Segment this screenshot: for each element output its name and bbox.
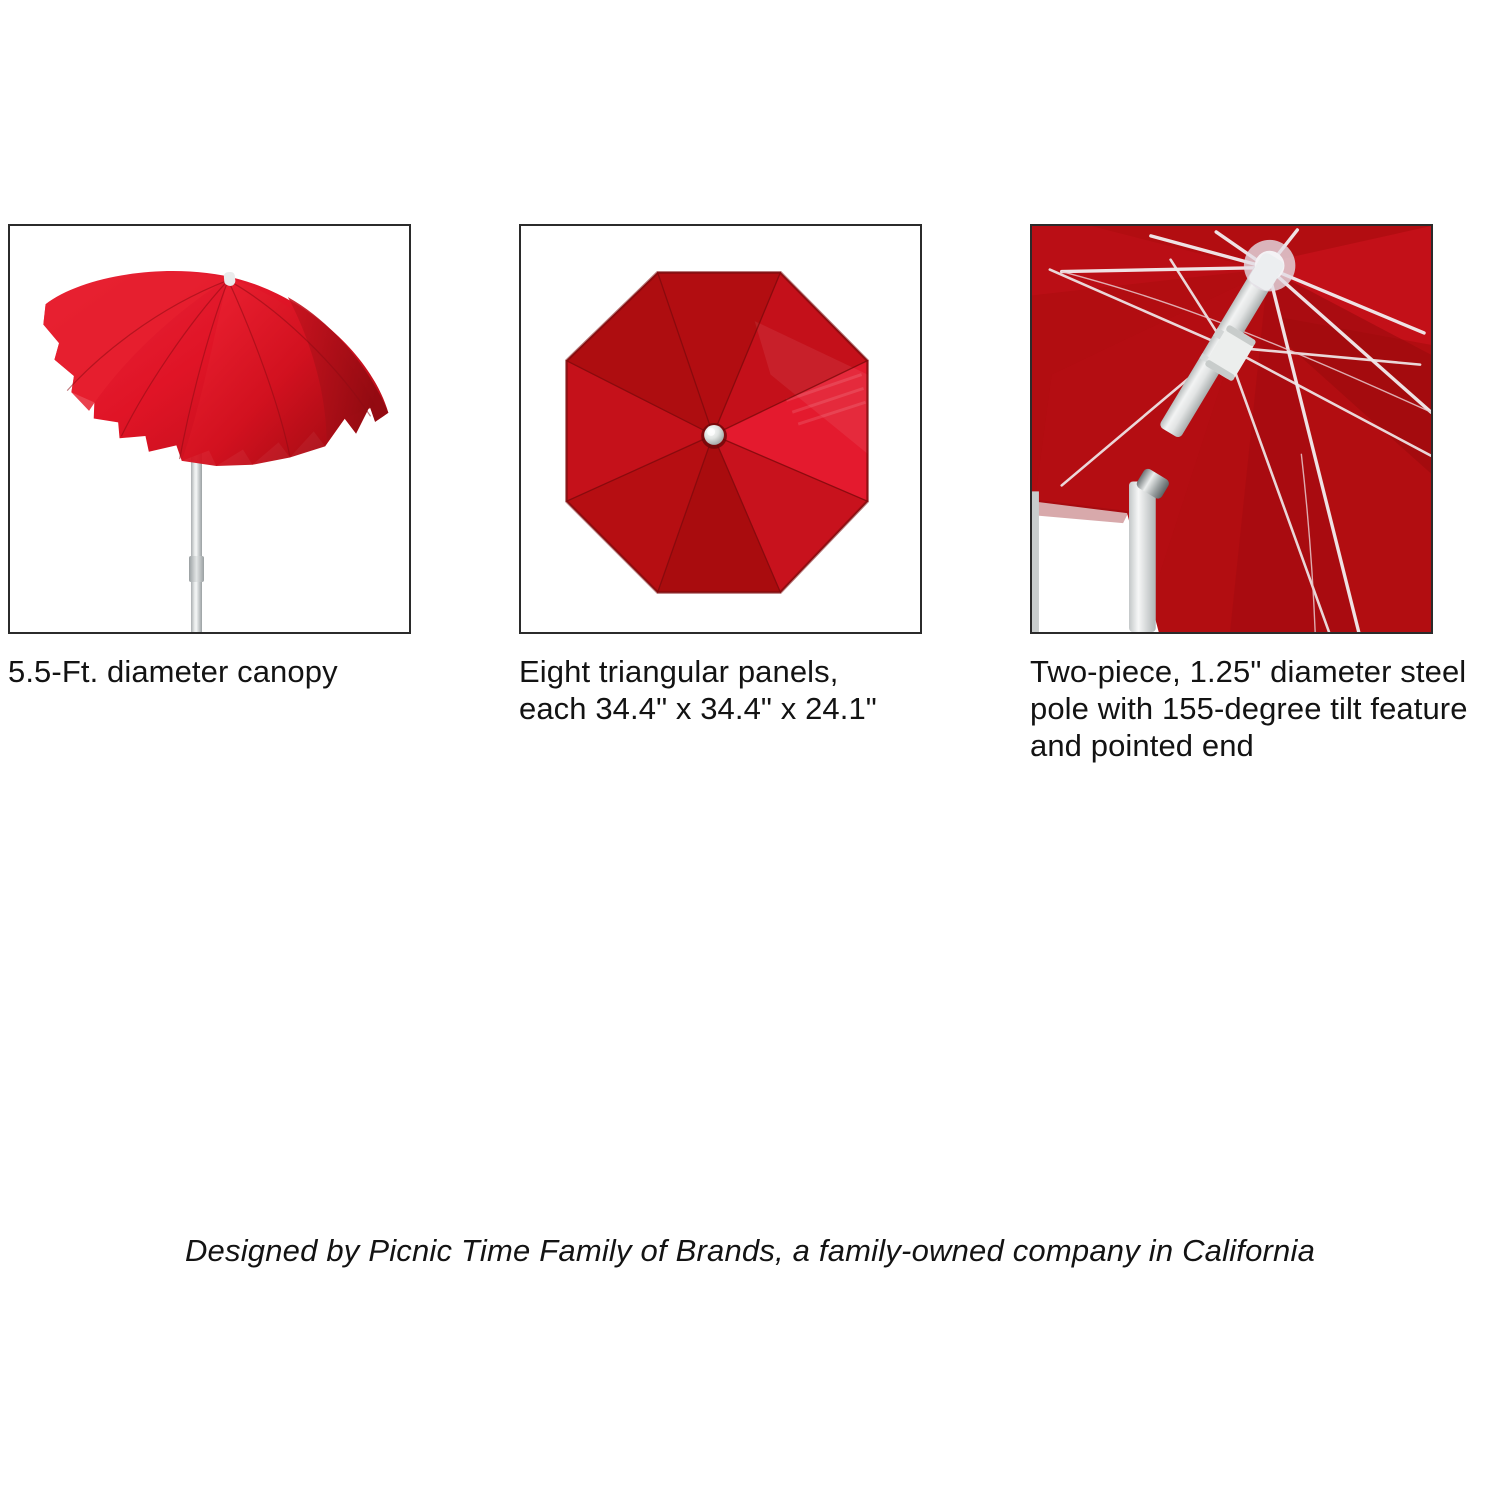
feature-image-frame-2 bbox=[519, 224, 922, 634]
feature-pole-spec: Two-piece, 1.25" diameter steel pole wit… bbox=[1030, 224, 1433, 764]
pole-joint bbox=[189, 556, 204, 582]
umbrella-side-view-illustration bbox=[10, 226, 409, 632]
feature-image-frame-3 bbox=[1030, 224, 1433, 634]
footer-tagline: Designed by Picnic Time Family of Brands… bbox=[0, 1233, 1500, 1269]
feature-panel-count: Eight triangular panels, each 34.4" x 34… bbox=[519, 224, 922, 764]
umbrella-top-view-illustration bbox=[521, 226, 920, 632]
umbrella-pole-closeup-illustration bbox=[1032, 226, 1431, 632]
feature-caption-2: Eight triangular panels, each 34.4" x 34… bbox=[519, 653, 989, 727]
feature-row: 5.5-Ft. diameter canopy bbox=[8, 224, 1492, 764]
octagon-canopy-svg bbox=[521, 226, 920, 632]
feature-image-frame-1 bbox=[8, 224, 411, 634]
umbrella-canopy-tilted bbox=[23, 245, 401, 519]
feature-canopy-diameter: 5.5-Ft. diameter canopy bbox=[8, 224, 411, 764]
feature-caption-3: Two-piece, 1.25" diameter steel pole wit… bbox=[1030, 653, 1500, 764]
canopy-shape-svg bbox=[23, 245, 401, 519]
feature-caption-1: 5.5-Ft. diameter canopy bbox=[8, 653, 478, 690]
product-feature-sheet: 5.5-Ft. diameter canopy bbox=[0, 0, 1500, 1500]
pole-tilt-svg bbox=[1032, 226, 1431, 632]
